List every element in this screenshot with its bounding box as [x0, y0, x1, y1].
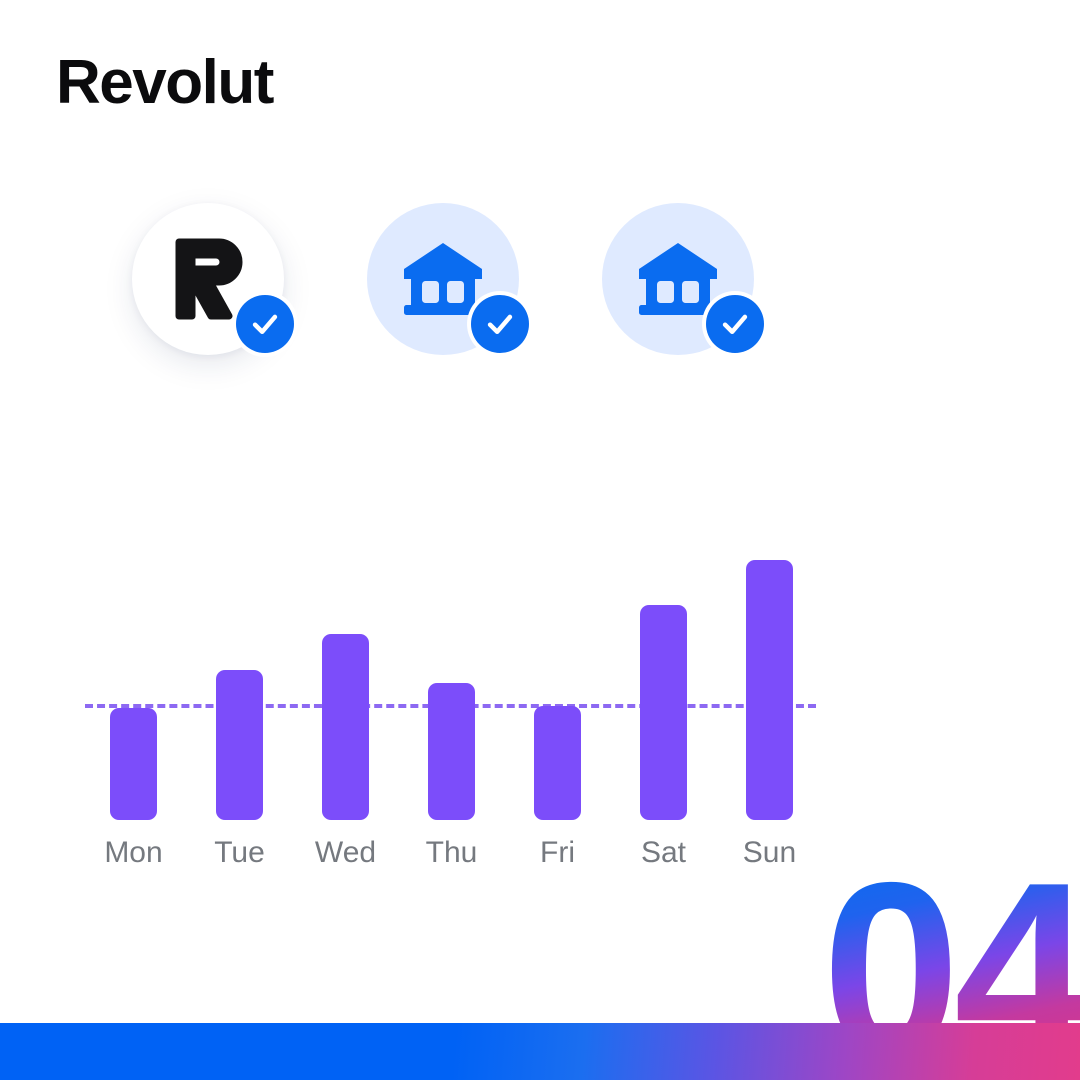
- linked-accounts-row: [0, 0, 1080, 420]
- chart-bar: [322, 634, 369, 820]
- verified-badge-fill: [706, 295, 764, 353]
- chart-bar: [428, 683, 475, 820]
- chart-plot-area: [0, 540, 1080, 830]
- slide-canvas: Revolut: [0, 0, 1080, 1080]
- check-icon: [718, 307, 752, 341]
- chart-x-label: Thu: [392, 836, 512, 870]
- footer-gradient-bar: [0, 1023, 1080, 1080]
- verified-badge-fill: [471, 295, 529, 353]
- chart-x-label: Wed: [286, 836, 406, 870]
- chart-x-label: Fri: [498, 836, 618, 870]
- account-tile-bank-1[interactable]: [367, 203, 519, 355]
- chart-bar: [746, 560, 793, 820]
- chart-x-label: Sat: [604, 836, 724, 870]
- account-tile-revolut[interactable]: [132, 203, 284, 355]
- chart-x-label: Sun: [710, 836, 830, 870]
- account-tile-bank-2[interactable]: [602, 203, 754, 355]
- verified-badge: [702, 291, 768, 357]
- chart-bar: [534, 706, 581, 820]
- chart-bar: [110, 708, 157, 820]
- chart-bar: [216, 670, 263, 820]
- chart-bar: [640, 605, 687, 820]
- verified-badge: [232, 291, 298, 357]
- chart-x-label: Mon: [74, 836, 194, 870]
- check-icon: [248, 307, 282, 341]
- verified-badge-fill: [236, 295, 294, 353]
- chart-x-label: Tue: [180, 836, 300, 870]
- check-icon: [483, 307, 517, 341]
- verified-badge: [467, 291, 533, 357]
